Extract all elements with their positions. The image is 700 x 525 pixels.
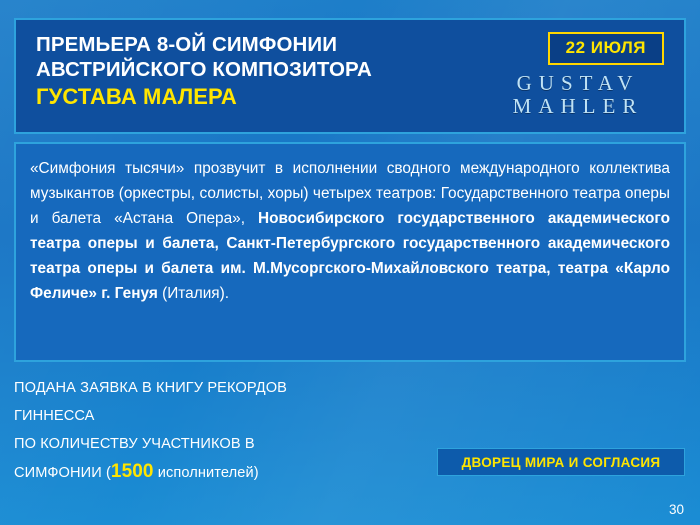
slide: ПРЕМЬЕРА 8-ОЙ СИМФОНИИ АВСТРИЙСКОГО КОМП… bbox=[0, 0, 700, 525]
title-line-2: АВСТРИЙСКОГО КОМПОЗИТОРА bbox=[36, 58, 372, 81]
composer-logo-first-name: GUSTAV bbox=[488, 72, 668, 95]
footer-line-3: ПО КОЛИЧЕСТВУ УЧАСТНИКОВ В bbox=[14, 430, 434, 458]
title-line-1: ПРЕМЬЕРА 8-ОЙ СИМФОНИИ bbox=[36, 33, 337, 56]
footer-line-1: ПОДАНА ЗАЯВКА В КНИГУ РЕКОРДОВ bbox=[14, 374, 434, 402]
footer-text: ПОДАНА ЗАЯВКА В КНИГУ РЕКОРДОВ ГИННЕССА … bbox=[14, 374, 434, 487]
page-number: 30 bbox=[669, 502, 684, 517]
venue-badge: ДВОРЕЦ МИРА И СОГЛАСИЯ bbox=[437, 448, 685, 476]
footer-line-2: ГИННЕССА bbox=[14, 402, 434, 430]
header-panel: ПРЕМЬЕРА 8-ОЙ СИМФОНИИ АВСТРИЙСКОГО КОМП… bbox=[14, 18, 686, 134]
page-title: ПРЕМЬЕРА 8-ОЙ СИМФОНИИ АВСТРИЙСКОГО КОМП… bbox=[36, 32, 476, 109]
body-panel: «Симфония тысячи» прозвучит в исполнении… bbox=[14, 142, 686, 362]
title-line-3: ГУСТАВА МАЛЕРА bbox=[36, 84, 476, 109]
body-paragraph: «Симфония тысячи» прозвучит в исполнении… bbox=[30, 156, 670, 306]
footer-line-4-prefix: СИМФОНИИ ( bbox=[14, 465, 111, 481]
footer-line-4-suffix: исполнителей) bbox=[154, 465, 259, 481]
footer-line-4: СИМФОНИИ (1500 исполнителей) bbox=[14, 458, 434, 487]
participants-count: 1500 bbox=[111, 461, 154, 482]
body-text-part-3: (Италия). bbox=[158, 285, 229, 302]
footer-panel: ПОДАНА ЗАЯВКА В КНИГУ РЕКОРДОВ ГИННЕССА … bbox=[14, 374, 434, 487]
date-badge: 22 ИЮЛЯ bbox=[548, 32, 664, 65]
composer-logo: GUSTAV MAHLER bbox=[488, 72, 668, 118]
composer-logo-last-name: MAHLER bbox=[488, 95, 668, 118]
